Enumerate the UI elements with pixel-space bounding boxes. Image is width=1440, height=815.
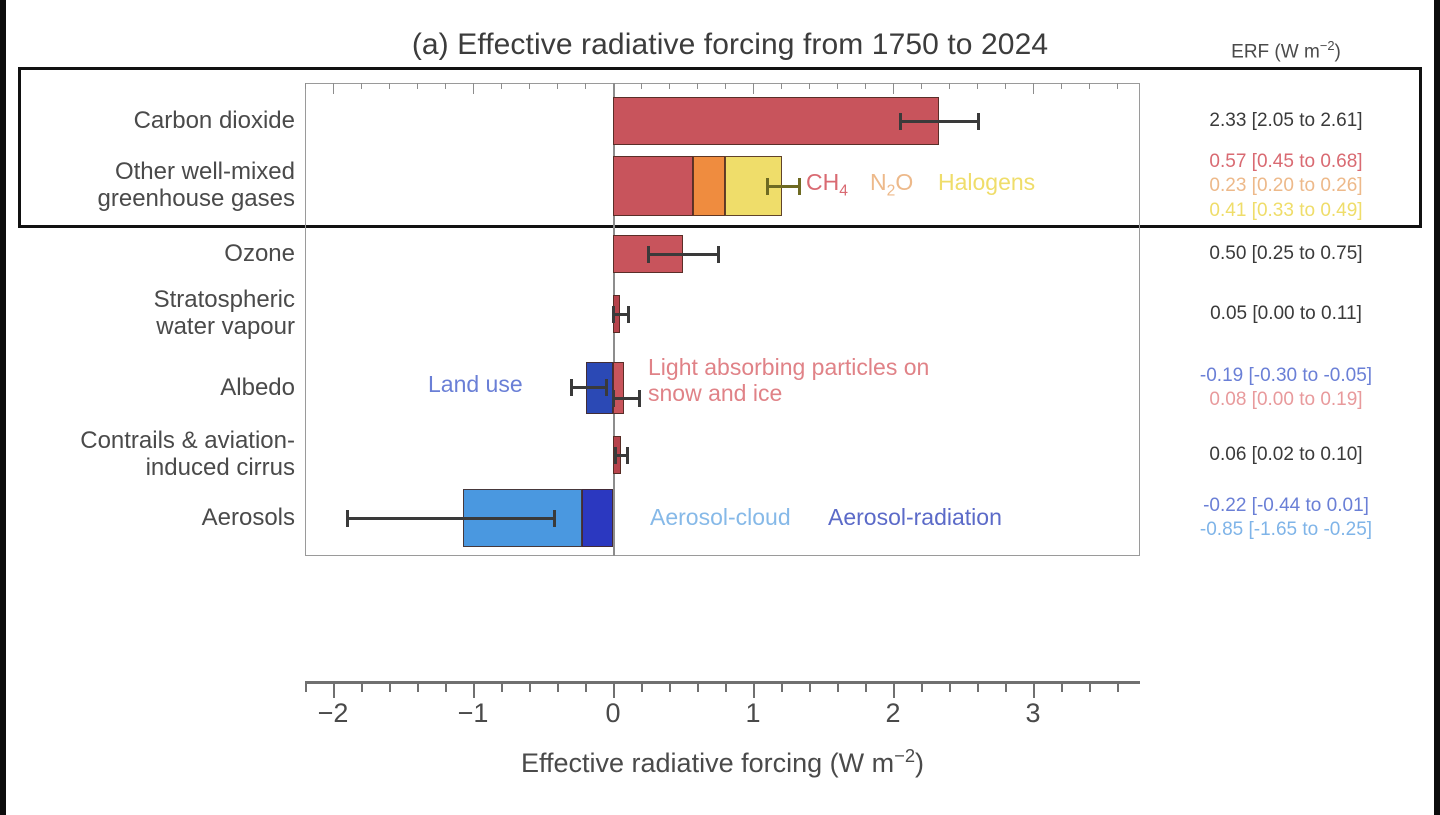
x-minor-tick: [1117, 684, 1119, 692]
top-minor-tick: [1061, 83, 1062, 89]
x-axis-label-prefix: Effective radiative forcing (W m: [521, 748, 894, 778]
x-minor-tick: [501, 684, 503, 692]
x-major-tick: [613, 684, 615, 698]
erf-header-prefix: ERF (W m: [1231, 41, 1320, 62]
bar-segment: [613, 156, 693, 216]
erf-value-cell: -0.22 [-0.44 to 0.01]-0.85 [-1.65 to -0.…: [1150, 494, 1422, 543]
top-major-tick: [473, 83, 474, 94]
bar-segment: [613, 97, 939, 145]
error-bar-cap: [647, 246, 650, 263]
top-minor-tick: [949, 83, 950, 89]
error-bar-cap: [346, 510, 349, 527]
error-bar-line: [648, 253, 718, 256]
x-minor-tick: [1061, 684, 1063, 692]
erf-value-line: 0.08 [0.00 to 0.19]: [1150, 388, 1422, 412]
row-label-line: Aerosols: [0, 505, 295, 532]
top-minor-tick: [669, 83, 670, 89]
annotation-n2o: N2O: [870, 170, 913, 200]
row-label-line: Carbon dioxide: [0, 108, 295, 135]
top-minor-tick: [445, 83, 446, 89]
error-bar-cap: [570, 379, 573, 396]
top-minor-tick: [697, 83, 698, 89]
x-minor-tick: [1005, 684, 1007, 692]
annotation-aerosol-radiation: Aerosol-radiation: [828, 505, 1002, 531]
erf-value-cell: 0.50 [0.25 to 0.75]: [1150, 242, 1422, 266]
x-minor-tick: [417, 684, 419, 692]
x-minor-tick: [977, 684, 979, 692]
erf-value-line: 0.41 [0.33 to 0.49]: [1150, 199, 1422, 223]
x-minor-tick: [669, 684, 671, 692]
bar-group: [613, 97, 939, 145]
annotation-ch4: CH4: [806, 170, 848, 200]
top-minor-tick: [725, 83, 726, 89]
error-bar-cap: [612, 390, 615, 407]
x-tick-label: −2: [303, 698, 363, 729]
x-minor-tick: [305, 684, 307, 692]
top-minor-tick: [781, 83, 782, 89]
bar-segment: [613, 362, 624, 414]
x-minor-tick: [865, 684, 867, 692]
error-bar-cap: [977, 113, 980, 130]
top-minor-tick: [529, 83, 530, 89]
erf-value-cell: 0.05 [0.00 to 0.11]: [1150, 302, 1422, 326]
row-label-line: Ozone: [0, 241, 295, 268]
row-label: Stratosphericwater vapour: [0, 287, 295, 341]
error-bar-line: [767, 185, 799, 188]
row-label: Other well-mixedgreenhouse gases: [0, 159, 295, 213]
erf-value-cell: 0.06 [0.02 to 0.10]: [1150, 443, 1422, 467]
error-bar-cap: [766, 178, 769, 195]
erf-value-line: 0.23 [0.20 to 0.26]: [1150, 174, 1422, 198]
x-minor-tick: [529, 684, 531, 692]
x-minor-tick: [557, 684, 559, 692]
row-label-line: Stratospheric: [0, 287, 295, 314]
error-bar-cap: [553, 510, 556, 527]
erf-bar-chart-figure: (a) Effective radiative forcing from 175…: [0, 0, 1440, 815]
x-axis-label: Effective radiative forcing (W m−2): [305, 745, 1140, 779]
bar-segment: [582, 489, 613, 547]
x-axis: [305, 681, 1140, 682]
top-minor-tick: [921, 83, 922, 89]
error-bar-cap: [612, 306, 615, 323]
error-bar-cap: [627, 306, 630, 323]
top-minor-tick: [305, 83, 306, 89]
x-major-tick: [333, 684, 335, 698]
erf-value-line: -0.85 [-1.65 to -0.25]: [1150, 518, 1422, 542]
x-minor-tick: [809, 684, 811, 692]
figure-title: (a) Effective radiative forcing from 175…: [300, 28, 1160, 62]
error-bar-line: [613, 397, 640, 400]
top-minor-tick: [417, 83, 418, 89]
row-label-line: greenhouse gases: [0, 186, 295, 213]
erf-header-exponent: −2: [1320, 38, 1335, 53]
top-minor-tick: [837, 83, 838, 89]
erf-value-line: 0.50 [0.25 to 0.75]: [1150, 242, 1422, 266]
error-bar-cap: [614, 447, 617, 464]
x-major-tick: [753, 684, 755, 698]
erf-value-line: 0.57 [0.45 to 0.68]: [1150, 150, 1422, 174]
bar-segment: [693, 156, 725, 216]
top-major-tick: [893, 83, 894, 94]
x-minor-tick: [781, 684, 783, 692]
error-bar-line: [900, 120, 978, 123]
bar-group: [613, 156, 782, 216]
top-minor-tick: [501, 83, 502, 89]
error-bar-cap: [717, 246, 720, 263]
x-minor-tick: [445, 684, 447, 692]
top-minor-tick: [1089, 83, 1090, 89]
erf-value-line: -0.19 [-0.30 to -0.05]: [1150, 364, 1422, 388]
x-minor-tick: [641, 684, 643, 692]
x-axis-line: [305, 681, 1140, 684]
x-tick-label: 3: [1003, 698, 1063, 729]
x-minor-tick: [585, 684, 587, 692]
x-tick-label: 1: [723, 698, 783, 729]
row-label: Carbon dioxide: [0, 108, 295, 135]
x-minor-tick: [725, 684, 727, 692]
x-minor-tick: [837, 684, 839, 692]
row-label: Albedo: [0, 375, 295, 402]
x-minor-tick: [361, 684, 363, 692]
error-bar-cap: [605, 379, 608, 396]
x-tick-label: 2: [863, 698, 923, 729]
x-minor-tick: [949, 684, 951, 692]
top-minor-tick: [809, 83, 810, 89]
top-minor-tick: [865, 83, 866, 89]
x-major-tick: [473, 684, 475, 698]
row-label-line: water vapour: [0, 314, 295, 341]
error-bar-cap: [798, 178, 801, 195]
error-bar-cap: [638, 390, 641, 407]
erf-value-line: 0.05 [0.00 to 0.11]: [1150, 302, 1422, 326]
erf-value-line: 2.33 [2.05 to 2.61]: [1150, 109, 1422, 133]
plot-frame: [305, 83, 1140, 556]
annotation-halogens: Halogens: [938, 170, 1035, 196]
erf-value-line: -0.22 [-0.44 to 0.01]: [1150, 494, 1422, 518]
x-major-tick: [893, 684, 895, 698]
top-minor-tick: [1005, 83, 1006, 89]
error-bar-cap: [899, 113, 902, 130]
top-minor-tick: [389, 83, 390, 89]
row-label: Aerosols: [0, 505, 295, 532]
erf-value-line: 0.06 [0.02 to 0.10]: [1150, 443, 1422, 467]
x-minor-tick: [921, 684, 923, 692]
x-axis-label-exponent: −2: [894, 745, 915, 766]
error-bar-cap: [626, 447, 629, 464]
top-minor-tick: [1117, 83, 1118, 89]
row-label-line: Other well-mixed: [0, 159, 295, 186]
erf-value-cell: 2.33 [2.05 to 2.61]: [1150, 109, 1422, 133]
error-bar-line: [571, 386, 606, 389]
error-bar-line: [347, 517, 554, 520]
erf-value-cell: 0.57 [0.45 to 0.68]0.23 [0.20 to 0.26]0.…: [1150, 150, 1422, 223]
x-minor-tick: [697, 684, 699, 692]
annotation-land-use: Land use: [428, 372, 523, 398]
top-major-tick: [753, 83, 754, 94]
x-tick-label: −1: [443, 698, 503, 729]
erf-value-cell: -0.19 [-0.30 to -0.05]0.08 [0.00 to 0.19…: [1150, 364, 1422, 413]
x-minor-tick: [1089, 684, 1091, 692]
top-minor-tick: [557, 83, 558, 89]
x-minor-tick: [389, 684, 391, 692]
x-major-tick: [1033, 684, 1035, 698]
top-minor-tick: [977, 83, 978, 89]
annotation-aerosol-cloud: Aerosol-cloud: [650, 505, 791, 531]
erf-column-header: ERF (W m−2): [1150, 38, 1422, 63]
x-axis-label-suffix: ): [915, 748, 924, 778]
row-label: Ozone: [0, 241, 295, 268]
row-label-line: Contrails & aviation-: [0, 428, 295, 455]
top-axis-ticks: [305, 83, 1140, 94]
erf-header-suffix: ): [1335, 41, 1341, 62]
top-minor-tick: [641, 83, 642, 89]
row-label-line: Albedo: [0, 375, 295, 402]
annotation-light-absorbing-particles: Light absorbing particles onsnow and ice: [648, 355, 929, 407]
row-label-line: induced cirrus: [0, 455, 295, 482]
top-minor-tick: [361, 83, 362, 89]
top-major-tick: [1033, 83, 1034, 94]
x-tick-label: 0: [583, 698, 643, 729]
top-major-tick: [333, 83, 334, 94]
row-label: Contrails & aviation-induced cirrus: [0, 428, 295, 482]
top-minor-tick: [585, 83, 586, 89]
